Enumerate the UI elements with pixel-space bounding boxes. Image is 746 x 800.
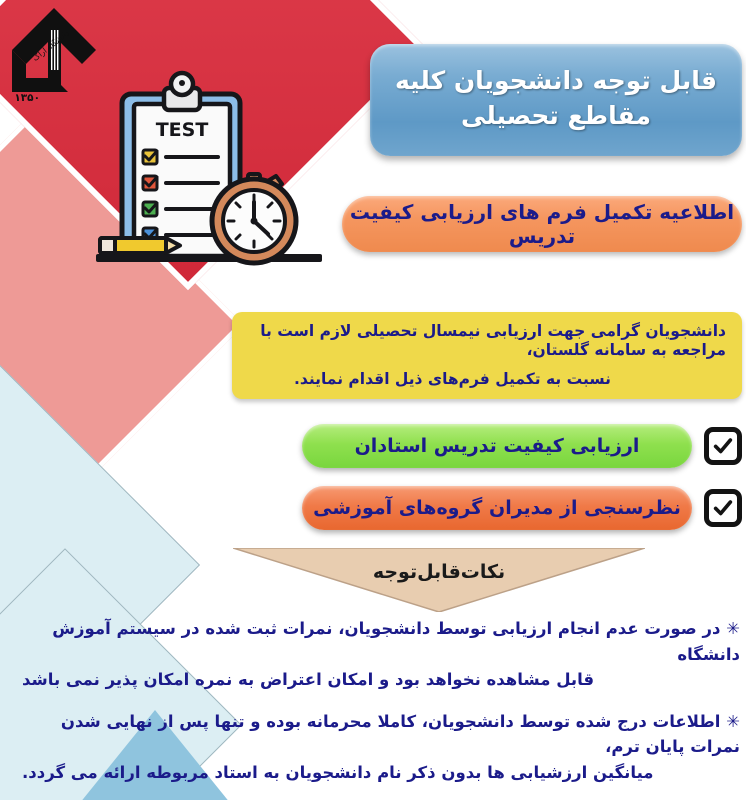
option-label-department-survey: نظرسنجی از مدیران گروه‌های آموزشی [313, 497, 681, 519]
note-2-line-2: میانگین ارزشیابی ها بدون ذکر نام دانشجوی… [18, 760, 740, 786]
option-label-teaching-quality: ارزیابی کیفیت تدریس استادان [355, 435, 640, 457]
important-notes-arrow-banner: نکات‌قابل‌توجه [233, 548, 645, 612]
instruction-line-1: دانشجویان گرامی جهت ارزیابی نیمسال تحصیل… [248, 322, 726, 361]
option-pill-department-survey[interactable]: نظرسنجی از مدیران گروه‌های آموزشی [302, 486, 692, 530]
clipboard-test-label: TEST [156, 119, 209, 141]
note-1-line-1: ✳ در صورت عدم انجام ارزیابی توسط دانشجوی… [18, 616, 740, 667]
test-clipboard-illustration: TEST [96, 66, 322, 276]
poster-root: دانشگاه اراک ۱۳۵۰ TEST [0, 0, 746, 800]
main-title-banner: قابل توجه دانشجویان کلیه مقاطع تحصیلی [370, 44, 742, 156]
important-notes-label: نکات‌قابل‌توجه [233, 561, 645, 583]
option-row-teaching-quality[interactable]: ارزیابی کیفیت تدریس استادان [302, 424, 742, 468]
announcement-subtitle-text: اطلاعیه تکمیل فرم های ارزیابی کیفیت تدری… [342, 200, 742, 248]
instruction-line-2: نسبت به تکمیل فرم‌های ذیل اقدام نمایند. [248, 370, 726, 389]
checkbox-checked-icon[interactable] [704, 427, 742, 465]
important-notes-list: ✳ در صورت عدم انجام ارزیابی توسط دانشجوی… [18, 616, 740, 785]
option-pill-teaching-quality[interactable]: ارزیابی کیفیت تدریس استادان [302, 424, 692, 468]
option-row-department-survey[interactable]: نظرسنجی از مدیران گروه‌های آموزشی [302, 486, 742, 530]
note-2-line-1: ✳ اطلاعات درج شده توسط دانشجویان، کاملا … [18, 709, 740, 760]
note-item: ✳ در صورت عدم انجام ارزیابی توسط دانشجوی… [18, 616, 740, 693]
university-logo: دانشگاه اراک ۱۳۵۰ [8, 4, 106, 104]
checkbox-checked-icon[interactable] [704, 489, 742, 527]
note-item: ✳ اطلاعات درج شده توسط دانشجویان، کاملا … [18, 709, 740, 786]
main-title-text: قابل توجه دانشجویان کلیه مقاطع تحصیلی [388, 63, 724, 134]
announcement-subtitle-banner: اطلاعیه تکمیل فرم های ارزیابی کیفیت تدری… [342, 196, 742, 252]
logo-year-text: ۱۳۵۰ [14, 92, 40, 104]
note-1-line-2: قابل مشاهده نخواهد بود و امکان اعتراض به… [18, 667, 740, 693]
instruction-notice-box: دانشجویان گرامی جهت ارزیابی نیمسال تحصیل… [232, 312, 742, 399]
